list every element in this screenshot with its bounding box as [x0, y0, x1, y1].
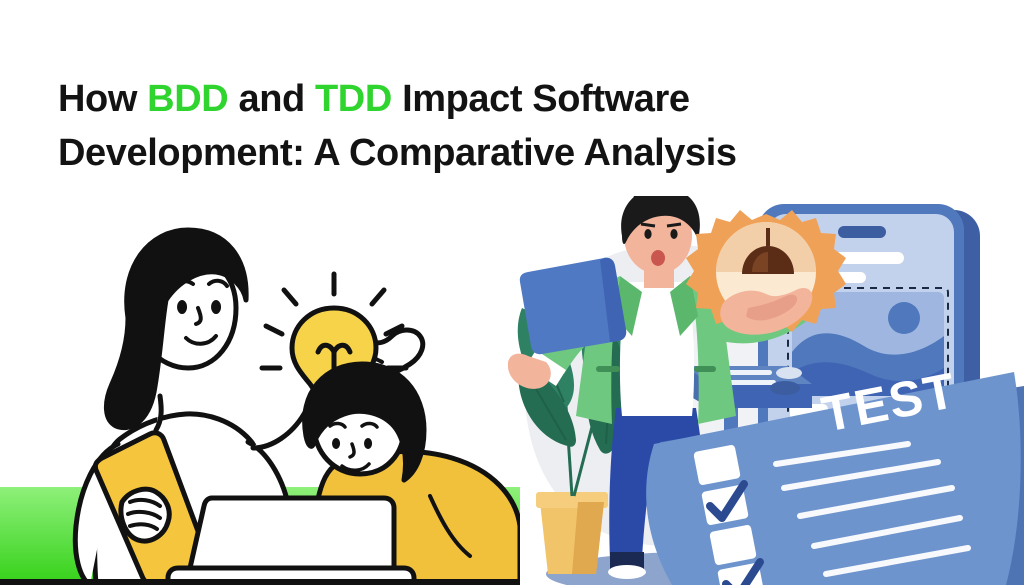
headline-segment-0: How — [58, 78, 147, 120]
blog-banner: How BDD and TDD Impact Software Developm… — [0, 0, 1024, 585]
tester-mouth — [651, 250, 665, 266]
tester-brow-left — [641, 224, 655, 226]
kiosk-knob-1 — [776, 367, 802, 379]
illustration-left — [0, 196, 520, 585]
phone-speaker — [838, 226, 886, 238]
page-title: How BDD and TDD Impact Software Developm… — [58, 73, 818, 181]
woman-eye-right — [211, 300, 221, 314]
phone-hero-dot — [888, 302, 920, 334]
seated-eye-left — [332, 438, 340, 449]
woman-gripping-hand — [121, 489, 169, 541]
tester-eye-left — [644, 229, 651, 239]
kiosk-slider-1 — [724, 370, 772, 375]
tester-shoe-sole-left — [608, 565, 646, 579]
kiosk-knob-2 — [770, 381, 800, 395]
illustration-area: TEST — [0, 196, 1024, 585]
laptop-screen — [190, 498, 394, 568]
laptop — [168, 498, 414, 585]
woman-neck — [156, 396, 161, 430]
tester-pocket-right — [694, 366, 716, 372]
headline-accent-tdd: TDD — [315, 78, 392, 120]
woman-eye-left — [177, 300, 187, 314]
illustration-right: TEST — [508, 196, 1024, 585]
tester-brow-right — [667, 224, 681, 226]
tester-eye-right — [670, 229, 677, 239]
headline-segment-2: and — [228, 78, 315, 120]
seated-eye-right — [364, 438, 372, 449]
blue-tablet — [520, 258, 626, 354]
headline-accent-bdd: BDD — [147, 78, 228, 120]
tester-pocket-left — [596, 366, 620, 372]
